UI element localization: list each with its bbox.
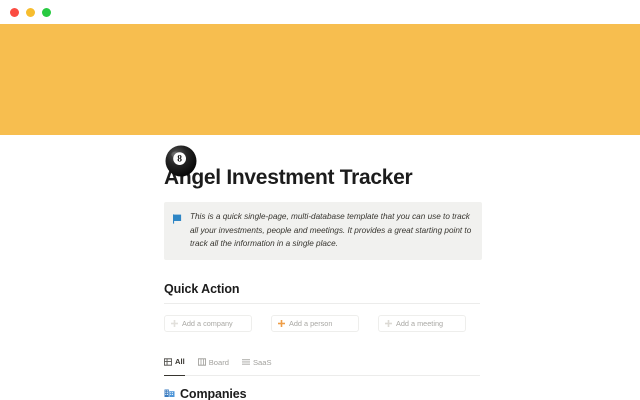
maximize-window-button[interactable] — [42, 8, 51, 17]
add-company-button[interactable]: Add a company — [164, 315, 252, 332]
tab-board-label: Board — [209, 358, 229, 367]
table-grid-icon — [164, 353, 172, 371]
tab-all-label: All — [175, 357, 185, 366]
svg-text:8: 8 — [177, 154, 182, 164]
tab-board[interactable]: Board — [198, 353, 229, 375]
blue-flag-icon — [173, 211, 182, 229]
tab-saas-label: SaaS — [253, 358, 272, 367]
database-view-tabs: All Board — [164, 353, 622, 376]
board-icon — [198, 353, 206, 371]
page-cover-banner[interactable] — [0, 24, 640, 135]
plus-icon — [278, 314, 285, 332]
quick-action-buttons: Add a company Add a person — [164, 315, 622, 332]
tab-saas[interactable]: SaaS — [242, 353, 272, 375]
callout-block[interactable]: This is a quick single-page, multi-datab… — [164, 202, 482, 260]
add-person-label: Add a person — [289, 319, 332, 328]
close-window-button[interactable] — [10, 8, 19, 17]
plus-icon — [385, 314, 392, 332]
section-divider — [164, 303, 480, 304]
callout-text: This is a quick single-page, multi-datab… — [190, 210, 472, 251]
add-meeting-button[interactable]: Add a meeting — [378, 315, 466, 332]
page-title[interactable]: Angel Investment Tracker — [164, 166, 622, 189]
list-icon — [242, 353, 250, 371]
browser-window: 8 Angel Investment Tracker This is a qui… — [0, 0, 640, 400]
add-meeting-label: Add a meeting — [396, 319, 443, 328]
office-building-icon — [164, 385, 175, 400]
window-titlebar — [0, 0, 640, 24]
tab-all[interactable]: All — [164, 353, 185, 376]
database-title-text: Companies — [180, 387, 246, 400]
add-person-button[interactable]: Add a person — [271, 315, 359, 332]
quick-action-heading: Quick Action — [164, 282, 622, 296]
minimize-window-button[interactable] — [26, 8, 35, 17]
page-content: 8 Angel Investment Tracker This is a qui… — [0, 166, 640, 400]
plus-icon — [171, 314, 178, 332]
add-company-label: Add a company — [182, 319, 233, 328]
8-ball-icon[interactable]: 8 — [162, 142, 200, 180]
database-title[interactable]: Companies — [164, 385, 622, 400]
